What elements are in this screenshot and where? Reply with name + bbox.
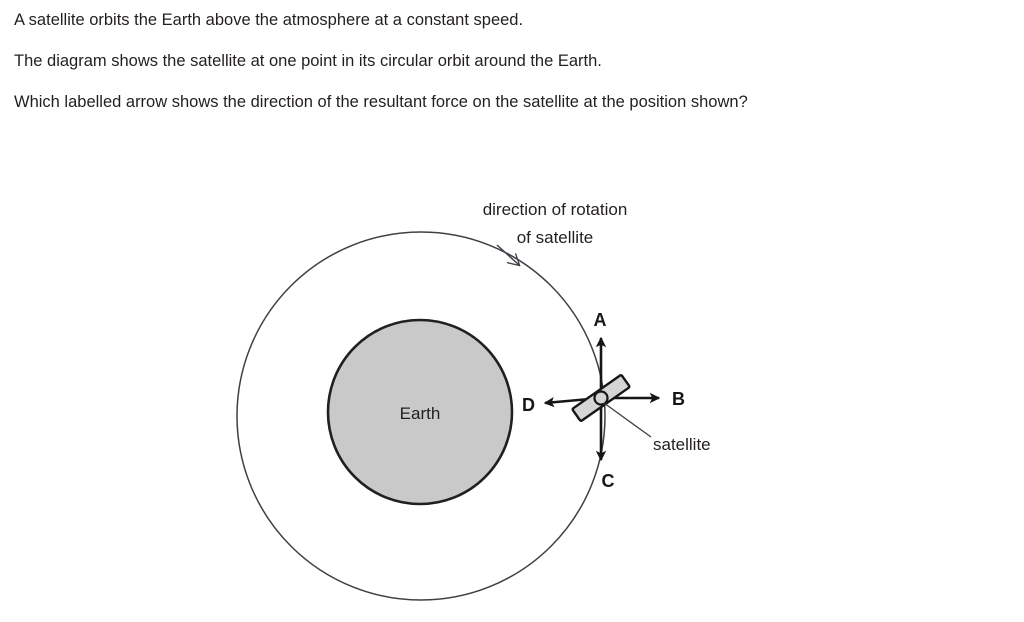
question-text-block: A satellite orbits the Earth above the a… <box>14 10 1010 113</box>
arrow-label-d: D <box>522 395 535 415</box>
arrow-label-c: C <box>602 471 615 491</box>
rotation-caption-line-2: of satellite <box>517 228 594 247</box>
rotation-caption-line-1: direction of rotation <box>483 200 628 219</box>
satellite-leader-line <box>604 403 651 437</box>
arrow-label-a: A <box>594 310 607 330</box>
question-line-3: Which labelled arrow shows the direction… <box>14 92 1010 113</box>
question-line-1: A satellite orbits the Earth above the a… <box>14 10 1010 31</box>
rotation-arrowhead-icon <box>497 245 519 265</box>
earth-label: Earth <box>400 404 441 423</box>
diagram-svg: Earth direction of rotation of satellite… <box>0 175 1024 622</box>
satellite-label: satellite <box>653 435 711 454</box>
satellite-hub <box>595 392 608 405</box>
question-line-2: The diagram shows the satellite at one p… <box>14 51 1010 72</box>
satellite-orbit-diagram: Earth direction of rotation of satellite… <box>0 175 1024 622</box>
arrow-label-b: B <box>672 389 685 409</box>
